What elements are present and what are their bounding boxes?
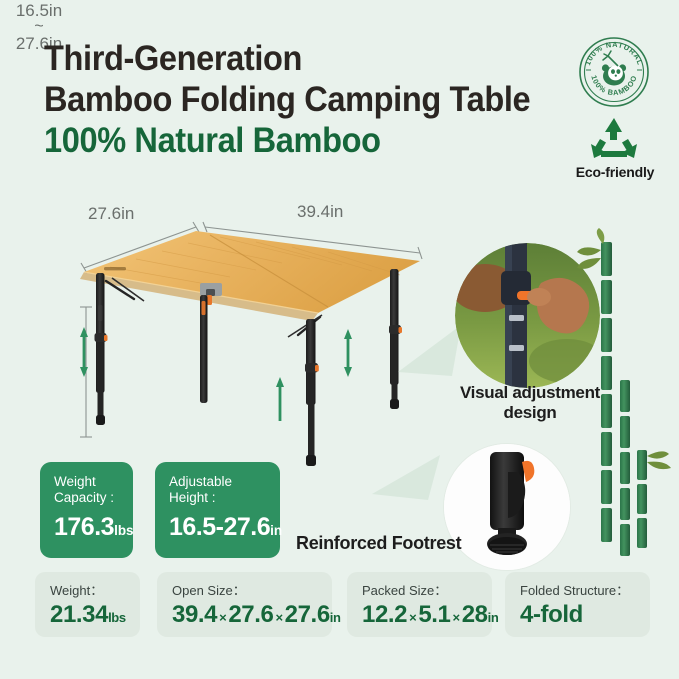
weight-capacity-number: 176.3: [54, 513, 114, 541]
spec-weight-number: 21.34: [50, 601, 108, 628]
weight-capacity-box: Weight Capacity : 176.3lbs: [40, 462, 133, 558]
packed-size-sep-1: ×: [407, 610, 418, 625]
spec-weight-label: Weight：: [50, 583, 126, 598]
packed-size-unit: in: [488, 610, 499, 625]
spec-weight-box: Weight： 21.34lbs: [35, 572, 140, 637]
weight-capacity-value: 176.3lbs: [54, 513, 119, 545]
reinforced-footrest-caption: Reinforced Footrest: [296, 533, 461, 554]
eco-friendly-label: Eco-friendly: [565, 164, 665, 180]
adjustable-height-number: 16.5-27.6: [169, 513, 270, 541]
packed-size-sep-2: ×: [451, 610, 462, 625]
packed-size-v1: 12.2: [362, 601, 407, 628]
open-size-sep-1: ×: [217, 610, 228, 625]
weight-capacity-label-2: Capacity :: [54, 490, 119, 506]
open-size-v2: 27.6: [228, 601, 273, 628]
open-size-v3: 27.6: [285, 601, 330, 628]
spec-folded-structure-box: Folded Structure： 4-fold: [505, 572, 650, 637]
title-line-2: Bamboo Folding Camping Table: [44, 79, 509, 120]
spec-packed-size-label: Packed Size：: [362, 583, 478, 598]
title-line-1: Third-Generation: [44, 38, 509, 79]
packed-size-v2: 5.1: [418, 601, 450, 628]
spec-folded-structure-label: Folded Structure：: [520, 583, 636, 598]
spec-weight-value: 21.34lbs: [50, 602, 126, 631]
spec-open-size-box: Open Size： 39.4×27.6×27.6in: [157, 572, 332, 637]
bamboo-stalk-decoration: [575, 228, 675, 568]
height-range-tilde: ~: [0, 21, 78, 33]
panda-bamboo-seal-icon: 100% NATURAL 100% BAMBOO: [578, 36, 650, 108]
spec-open-size-label: Open Size：: [172, 583, 318, 598]
spec-folded-structure-value: 4-fold: [520, 602, 636, 628]
title-line-3: 100% Natural Bamboo: [44, 120, 509, 161]
adjustable-height-label-2: Height :: [169, 490, 266, 506]
recycle-icon: [588, 116, 640, 164]
weight-capacity-label-1: Weight: [54, 474, 119, 490]
open-size-v1: 39.4: [172, 601, 217, 628]
adjustable-height-box: Adjustable Height : 16.5-27.6in: [155, 462, 280, 558]
adjustable-height-label-1: Adjustable: [169, 474, 266, 490]
spec-weight-unit: lbs: [108, 610, 126, 625]
adjustable-height-unit: in: [270, 523, 282, 538]
page-title: Third-Generation Bamboo Folding Camping …: [44, 38, 544, 161]
weight-capacity-unit: lbs: [114, 523, 134, 538]
infographic-canvas: Third-Generation Bamboo Folding Camping …: [0, 0, 679, 679]
spec-packed-size-box: Packed Size： 12.2×5.1×28in: [347, 572, 492, 637]
spec-packed-size-value: 12.2×5.1×28in: [362, 602, 478, 631]
open-size-sep-2: ×: [273, 610, 284, 625]
reinforced-footrest-photo: [443, 443, 571, 571]
packed-size-v3: 28: [462, 601, 488, 628]
adjustable-height-value: 16.5-27.6in: [169, 513, 266, 545]
bamboo-table-illustration: [60, 215, 420, 475]
open-size-unit: in: [330, 610, 341, 625]
spec-open-size-value: 39.4×27.6×27.6in: [172, 602, 318, 631]
